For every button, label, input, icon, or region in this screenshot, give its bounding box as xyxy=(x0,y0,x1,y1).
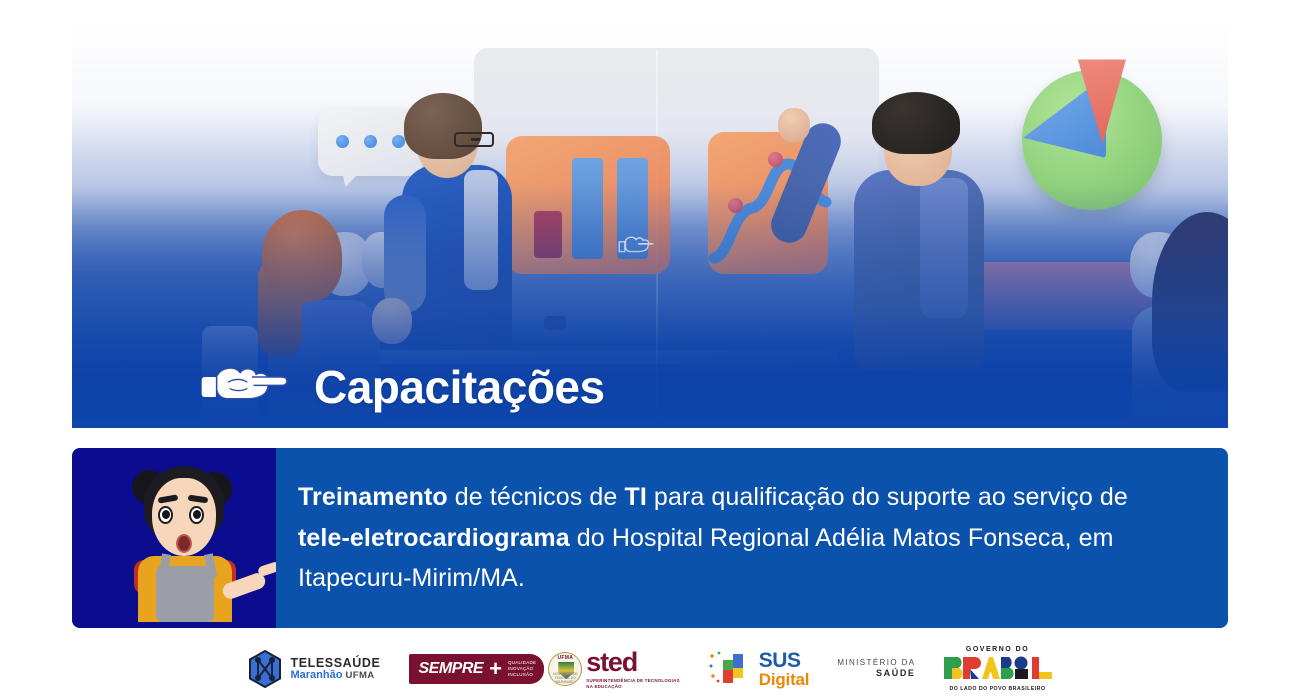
ministerio-line2: SAÚDE xyxy=(837,668,915,679)
hero-banner: Capacitações xyxy=(72,20,1228,428)
info-band: Treinamento de técnicos de TI para quali… xyxy=(72,448,1228,628)
mascot-pupil-left xyxy=(162,510,170,519)
sted-subtitle: SUPERINTENDÊNCIA DE TECNOLOGIAS NA EDUCA… xyxy=(586,678,679,690)
telessaude-line2: Maranhão xyxy=(290,669,342,681)
ministerio-line1: MINISTÉRIO DA xyxy=(837,658,915,668)
mascot-finger xyxy=(257,561,276,577)
ufma-crest-top: UFMA xyxy=(549,655,581,661)
announcement-plain-1: de técnicos de xyxy=(448,483,625,511)
logo-telessaude: TELESSAÚDE Maranhão UFMA xyxy=(248,650,380,688)
logo-sus-digital: SUS Digital xyxy=(708,650,810,689)
telessaude-network-icon xyxy=(248,650,282,688)
sus-line2: Digital xyxy=(759,671,810,688)
mascot-overalls xyxy=(156,566,214,622)
announcement-bold-1: Treinamento xyxy=(298,483,448,511)
band-text-area: Treinamento de técnicos de TI para quali… xyxy=(276,448,1228,628)
mascot-mouth xyxy=(176,534,192,553)
sus-plus-icon xyxy=(708,650,754,688)
announcement-plain-2: para qualificação do suporte ao serviço … xyxy=(647,483,1128,511)
sus-line1: SUS xyxy=(759,650,810,671)
logo-governo-brasil: GOVERNO DO DO LADO DO POVO BRAS xyxy=(944,646,1052,692)
logo-sempre-mais: SEMPRE + QUALIDADE INOVAÇÃO INCLUSÃO UFM… xyxy=(409,649,680,690)
sted-wordmark: sted xyxy=(586,649,679,676)
announcement-bold-2: TI xyxy=(624,483,646,511)
partner-logos-strip: TELESSAÚDE Maranhão UFMA SEMPRE + QUALID… xyxy=(0,638,1300,700)
pointing-hand-icon xyxy=(200,362,292,412)
sempre-tagline: QUALIDADE INOVAÇÃO INCLUSÃO xyxy=(508,660,536,678)
brasil-wordmark-icon xyxy=(944,655,1052,681)
governo-bottom-label: DO LADO DO POVO BRASILEIRO xyxy=(944,687,1052,692)
announcement-text: Treinamento de técnicos de TI para quali… xyxy=(298,477,1176,599)
mascot-pupil-right xyxy=(193,510,201,519)
page-root: Capacitações Treinam xyxy=(0,0,1300,700)
sempre-word: SEMPRE xyxy=(419,660,484,678)
governo-top-label: GOVERNO DO xyxy=(944,646,1052,653)
ufma-crest-bottom: UNIVERSIDADE FEDERAL DO MARANHÃO xyxy=(549,672,581,684)
hero-title-row: Capacitações xyxy=(200,360,605,414)
ufma-crest-icon: UFMA UNIVERSIDADE FEDERAL DO MARANHÃO xyxy=(548,652,582,686)
telessaude-ufma: UFMA xyxy=(345,670,374,681)
logo-ministerio-saude: MINISTÉRIO DA SAÚDE xyxy=(837,658,915,679)
announcement-bold-3: tele-eletrocardiograma xyxy=(298,524,570,552)
page-title: Capacitações xyxy=(314,360,605,414)
mascot-illustration xyxy=(72,448,276,628)
